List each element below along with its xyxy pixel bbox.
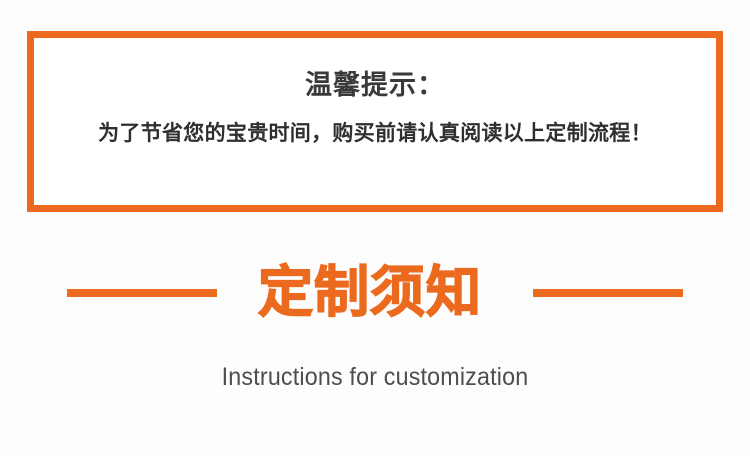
notice-title: 温馨提示： — [305, 71, 445, 101]
customization-notice-page: 温馨提示： 为了节省您的宝贵时间，购买前请认真阅读以上定制流程！ 定制须知 In… — [0, 0, 750, 456]
section-heading: 定制须知 — [0, 255, 750, 330]
section-title: 定制须知 — [258, 265, 482, 320]
section-subtitle: Instructions for customization — [26, 362, 724, 392]
divider-rule-left — [67, 289, 217, 297]
notice-body-text: 为了节省您的宝贵时间，购买前请认真阅读以上定制流程！ — [98, 121, 652, 146]
divider-rule-right — [533, 289, 683, 297]
notice-box: 温馨提示： 为了节省您的宝贵时间，购买前请认真阅读以上定制流程！ — [27, 31, 723, 212]
